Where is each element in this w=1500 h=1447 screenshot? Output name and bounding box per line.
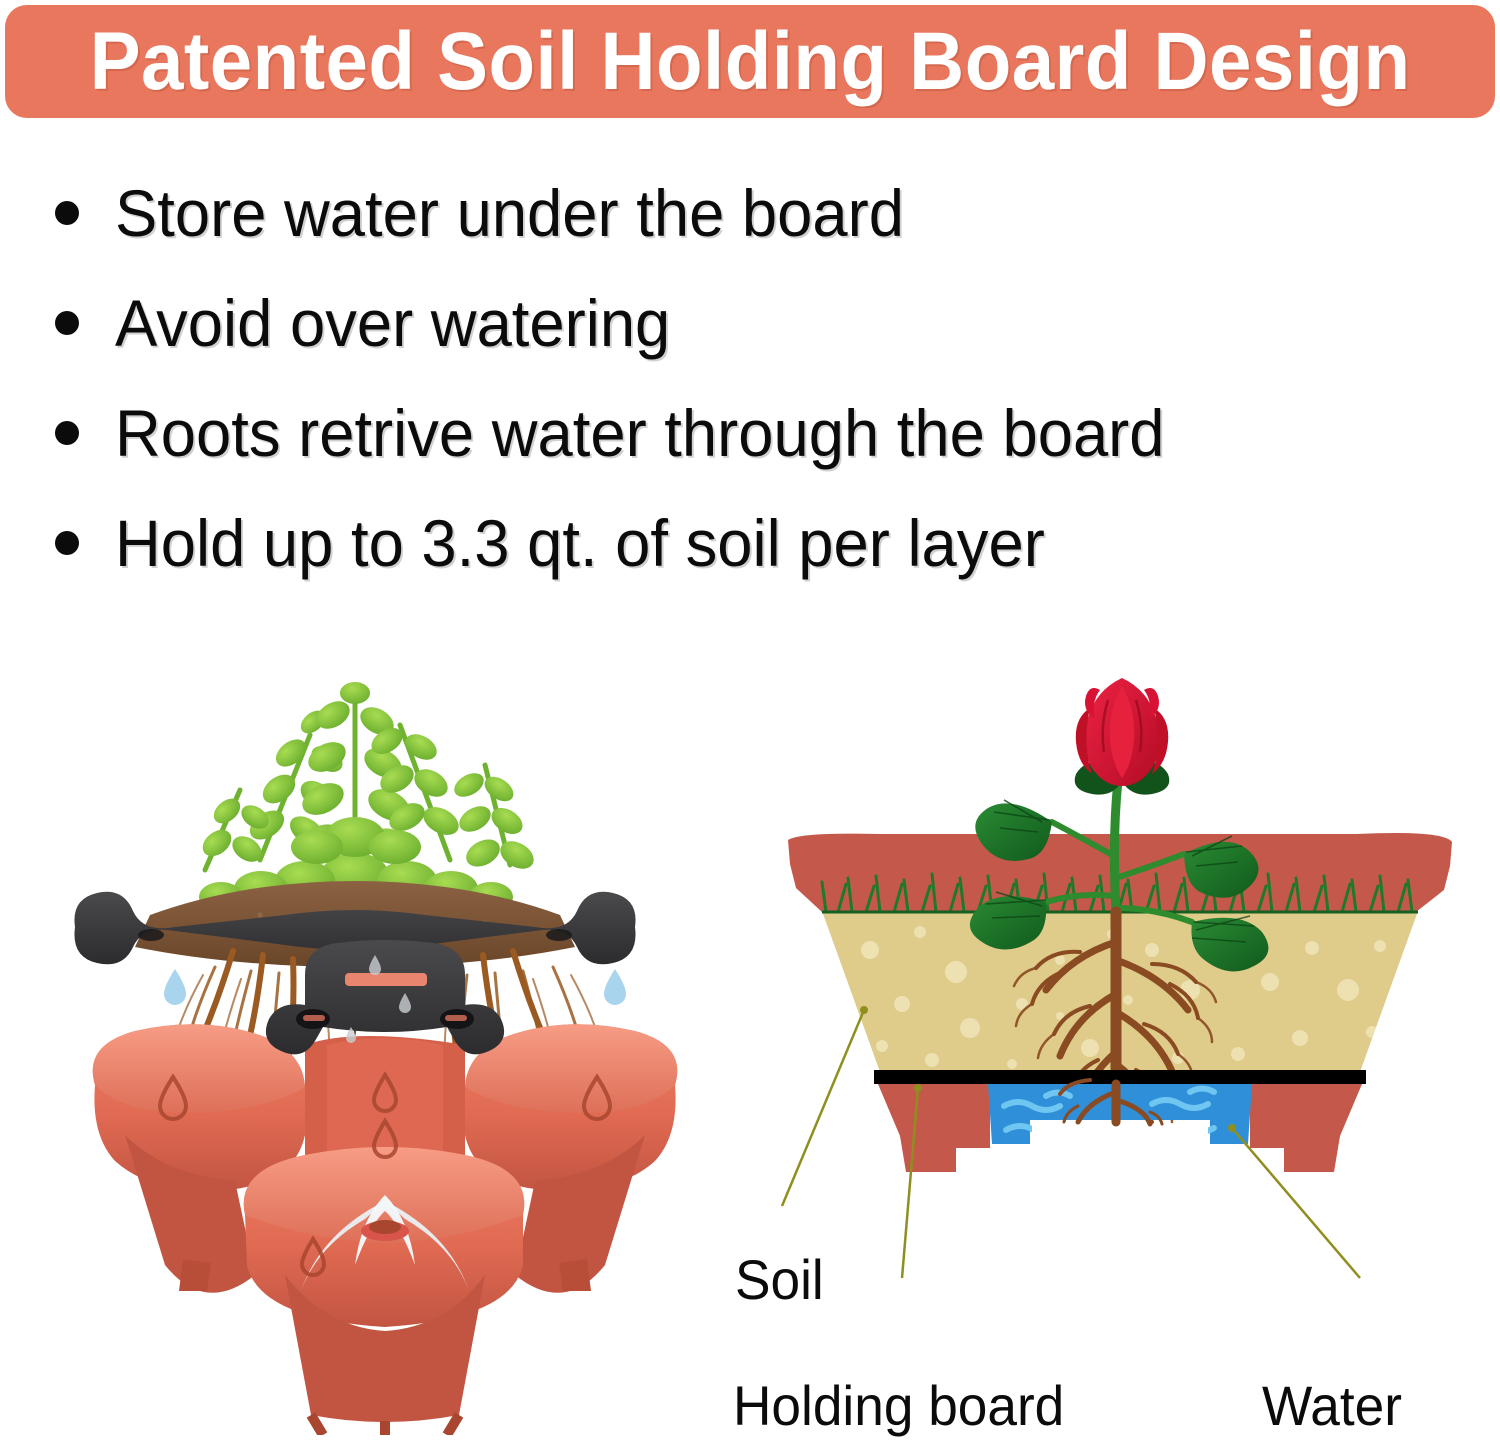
- cross-section-illustration: [760, 660, 1480, 1300]
- feature-bullet-text: Avoid over watering: [115, 290, 670, 356]
- feature-bullet-text: Hold up to 3.3 qt. of soil per layer: [115, 510, 1045, 576]
- list-item: Avoid over watering: [55, 268, 1455, 378]
- callout-label-water: Water: [1262, 1378, 1402, 1434]
- plant-foliage: [198, 682, 539, 912]
- leader-line-soil: [782, 1010, 864, 1206]
- rose-bloom: [1076, 678, 1168, 786]
- list-item: Store water under the board: [55, 158, 1455, 268]
- bullet-dot-icon: [55, 531, 79, 555]
- bullet-dot-icon: [55, 421, 79, 445]
- water-reservoir: [988, 1080, 1252, 1144]
- bullet-dot-icon: [55, 311, 79, 335]
- page-title: Patented Soil Holding Board Design: [90, 21, 1411, 103]
- header-banner: Patented Soil Holding Board Design: [5, 5, 1495, 118]
- stackable-planter-photo: [55, 575, 715, 1435]
- feature-bullet-text: Roots retrive water through the board: [115, 400, 1165, 466]
- callout-label-holding-board: Holding board: [733, 1378, 1064, 1434]
- feature-bullet-text: Store water under the board: [115, 180, 904, 246]
- pot-cross-section-diagram: [760, 660, 1480, 1300]
- bullet-dot-icon: [55, 201, 79, 225]
- feature-bullet-list: Store water under the board Avoid over w…: [55, 158, 1455, 598]
- holding-board-bar: [874, 1070, 1366, 1084]
- callout-label-soil: Soil: [735, 1252, 824, 1308]
- stackable-planter-illustration: [55, 575, 715, 1435]
- list-item: Roots retrive water through the board: [55, 378, 1455, 488]
